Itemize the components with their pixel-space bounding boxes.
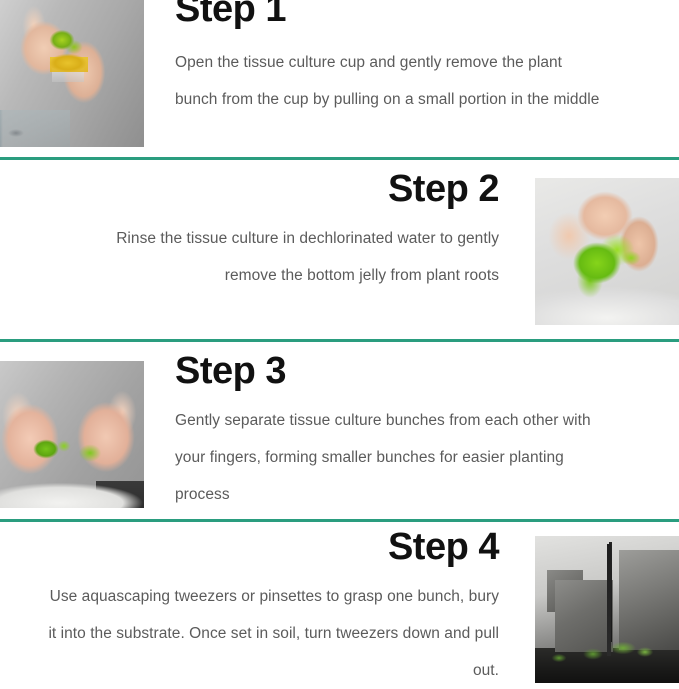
step-2-body: Rinse the tissue culture in dechlorinate…	[65, 220, 499, 294]
step-4-body: Use aquascaping tweezers or pinsettes to…	[45, 578, 499, 689]
step-1-title: Step 1	[175, 0, 605, 30]
step-2-text-column: Step 2 Rinse the tissue culture in dechl…	[65, 168, 499, 294]
step-2-photo	[535, 178, 679, 325]
steps-infographic: Step 1 Open the tissue culture cup and g…	[0, 0, 679, 683]
step-1-section: Step 1 Open the tissue culture cup and g…	[0, 0, 679, 157]
step-3-photo	[0, 361, 144, 508]
step-4-title: Step 4	[45, 526, 499, 568]
step-2-section: Step 2 Rinse the tissue culture in dechl…	[0, 160, 679, 339]
step-2-title: Step 2	[65, 168, 499, 210]
step-1-body: Open the tissue culture cup and gently r…	[175, 44, 605, 118]
step-4-section: Step 4 Use aquascaping tweezers or pinse…	[0, 522, 679, 683]
step-3-body: Gently separate tissue culture bunches f…	[175, 402, 605, 513]
step-1-photo	[0, 0, 144, 147]
step-3-text-column: Step 3 Gently separate tissue culture bu…	[175, 350, 605, 513]
step-3-title: Step 3	[175, 350, 605, 392]
step-4-text-column: Step 4 Use aquascaping tweezers or pinse…	[45, 526, 499, 689]
step-3-section: Step 3 Gently separate tissue culture bu…	[0, 342, 679, 519]
step-4-photo	[535, 536, 679, 683]
step-1-text-column: Step 1 Open the tissue culture cup and g…	[175, 0, 605, 118]
